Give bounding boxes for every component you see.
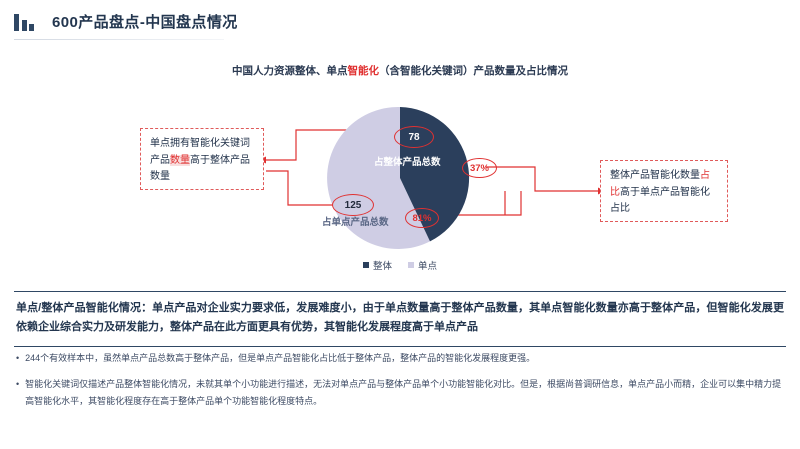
callout-right-text1: 整体产品智能化数量 (610, 170, 700, 181)
bullet-text: 智能化关键词仅描述产品整体智能化情况，未就其单个小功能进行描述，无法对单点产品与… (25, 376, 788, 410)
callout-left-highlight: 数量 (170, 155, 190, 166)
list-item: • 智能化关键词仅描述产品整体智能化情况，未就其单个小功能进行描述，无法对单点产… (16, 376, 788, 410)
pie-percent-bubble-overall: 37% (462, 158, 497, 178)
chart-subtitle-part2: （含智能化关键词）产品数量及占比情况 (379, 65, 568, 77)
legend-item-single[interactable]: 单点 (408, 258, 437, 272)
pie-label-overall-share: 占整体产品总数 (374, 154, 441, 168)
legend-label-single: 单点 (418, 258, 437, 272)
connector-right-upper (486, 167, 598, 191)
chart-subtitle-part1: 中国人力资源整体、单点 (232, 65, 348, 77)
pie-label-single-share: 占单点产品总数 (322, 214, 389, 228)
list-item: • 244个有效样本中，虽然单点产品总数高于整体产品，但是单点产品智能化占比低于… (16, 350, 788, 367)
header-divider (14, 39, 224, 40)
callout-left: 单点拥有智能化关键词产品数量高于整体产品数量 (140, 128, 264, 190)
pie-value-bubble-overall: 78 (394, 126, 434, 148)
bullet-text: 244个有效样本中，虽然单点产品总数高于整体产品，但是单点产品智能化占比低于整体… (25, 350, 788, 367)
pie-percent-bubble-single: 81% (405, 208, 439, 228)
chart-subtitle-highlight: 智能化 (348, 65, 380, 77)
legend-item-overall[interactable]: 整体 (363, 258, 392, 272)
pie-value-bubble-single: 125 (332, 194, 374, 216)
page-title: 600产品盘点-中国盘点情况 (52, 11, 238, 32)
callout-right: 整体产品智能化数量占比高于单点产品智能化占比 (600, 160, 728, 222)
pie-svg (316, 104, 484, 252)
summary-box: 单点/整体产品智能化情况：单点产品对企业实力要求低，发展难度小，由于单点数量高于… (14, 291, 786, 347)
pie-chart: 占整体产品总数 占单点产品总数 78 37% 125 81% (316, 104, 484, 252)
bullet-list: • 244个有效样本中，虽然单点产品总数高于整体产品，但是单点产品智能化占比低于… (16, 350, 788, 419)
legend-label-overall: 整体 (373, 258, 392, 272)
summary-text: 单点/整体产品智能化情况：单点产品对企业实力要求低，发展难度小，由于单点数量高于… (16, 302, 784, 333)
bullet-dot-icon: • (16, 350, 19, 367)
callout-right-text2: 高于单点产品智能化占比 (610, 187, 710, 215)
bullet-dot-icon: • (16, 376, 19, 410)
bar-chart-icon (14, 14, 40, 31)
chart-subtitle: 中国人力资源整体、单点智能化（含智能化关键词）产品数量及占比情况 (0, 63, 800, 78)
page-header: 600产品盘点-中国盘点情况 (0, 0, 800, 42)
legend-swatch-overall (363, 262, 369, 268)
chart-legend: 整体 单点 (0, 258, 800, 272)
legend-swatch-single (408, 262, 414, 268)
